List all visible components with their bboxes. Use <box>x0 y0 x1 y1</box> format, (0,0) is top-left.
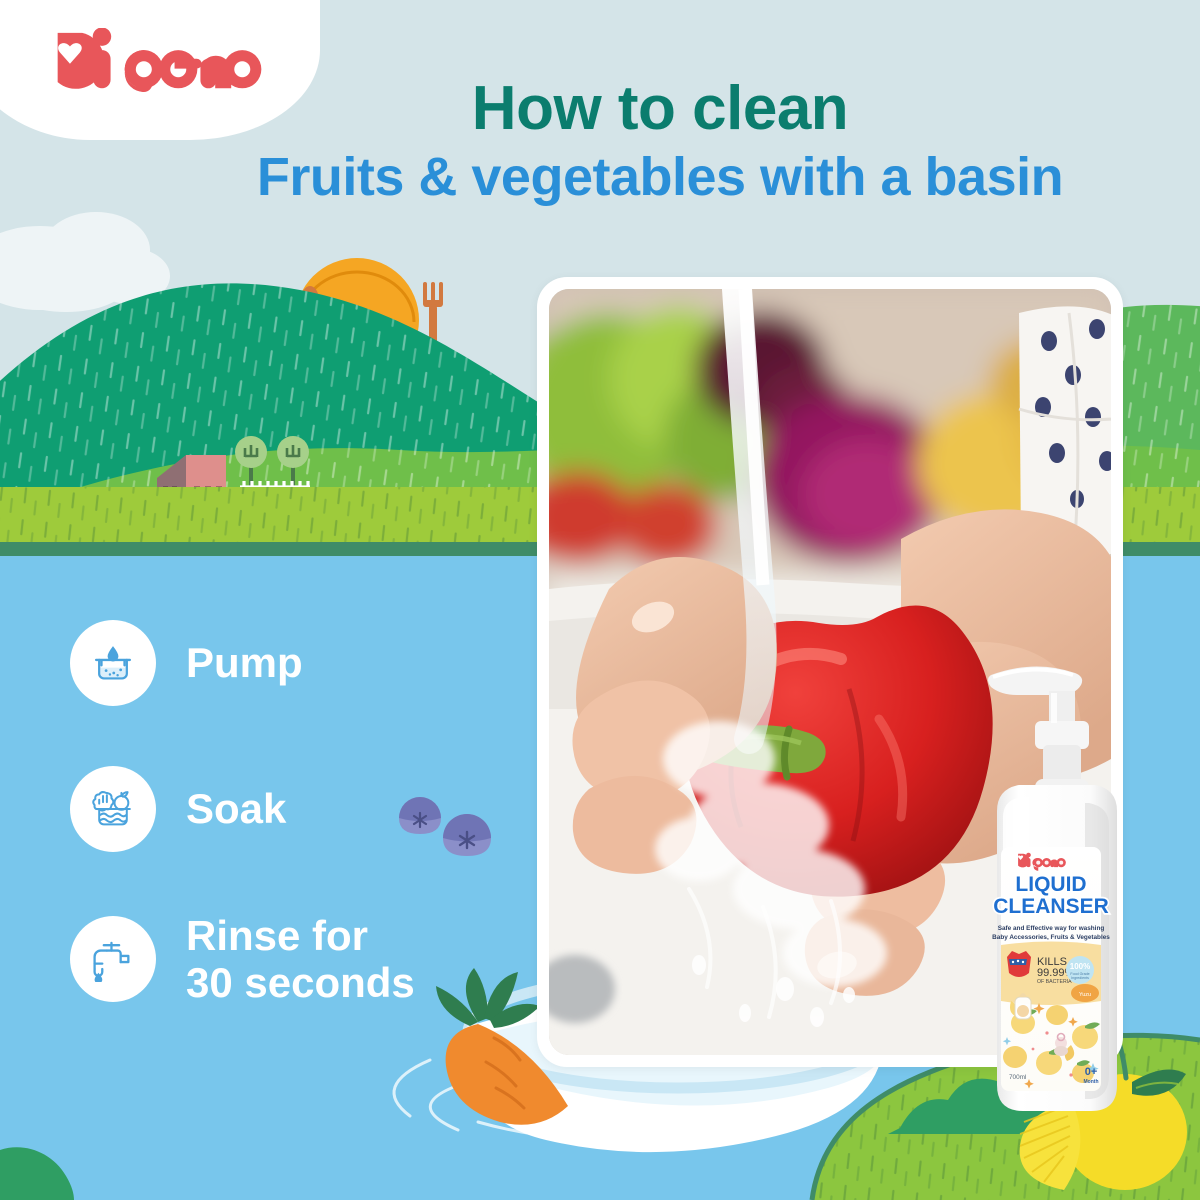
page-subtitle: Fruits & vegetables with a basin <box>120 149 1200 206</box>
label-tagline-2: Baby Accessories, Fruits & Vegetables <box>992 934 1110 941</box>
step-rinse: Rinse for 30 seconds <box>70 912 490 1006</box>
infographic-canvas: LIQUID CLEANSER Safe and Effective way f… <box>0 0 1200 1200</box>
step-label-soak: Soak <box>186 785 286 832</box>
kills-bacteria-badge <box>1007 951 1031 977</box>
basin-droplet-icon <box>70 620 156 706</box>
label-age-sub: Month <box>1084 1079 1099 1085</box>
bottle-label: LIQUID CLEANSER Safe and Effective way f… <box>992 847 1110 1091</box>
pump-dispenser <box>988 666 1089 801</box>
step-label-rinse: Rinse for 30 seconds <box>186 912 415 1006</box>
label-badge-sub2: Ingredients <box>1071 976 1089 980</box>
header: How to clean Fruits & vegetables with a … <box>0 76 1200 206</box>
label-flavour: Yuzu <box>1079 992 1091 998</box>
step-pump: Pump <box>70 620 490 706</box>
basin-vegetables-icon <box>70 766 156 852</box>
flavour-badge: Yuzu <box>1071 984 1099 1002</box>
page-title: How to clean <box>120 76 1200 141</box>
steps-list: Pump Soak <box>70 620 490 1066</box>
faucet-icon <box>70 916 156 1002</box>
label-product-line2: CLEANSER <box>993 895 1109 918</box>
label-badge-percent: 100% <box>1070 962 1090 971</box>
label-kills-3: OF BACTERIA <box>1037 979 1072 985</box>
product-bottle: LIQUID CLEANSER Safe and Effective way f… <box>963 645 1139 1125</box>
step-soak: Soak <box>70 766 490 852</box>
label-product-line1: LIQUID <box>1015 873 1086 896</box>
food-grade-badge: 100% Food Grade Ingredients <box>1066 956 1094 984</box>
label-tagline-1: Safe and Effective way for washing <box>998 925 1105 932</box>
step-label-pump: Pump <box>186 639 303 686</box>
label-volume: 700ml <box>1009 1074 1026 1081</box>
label-age: 0+ <box>1085 1066 1098 1078</box>
